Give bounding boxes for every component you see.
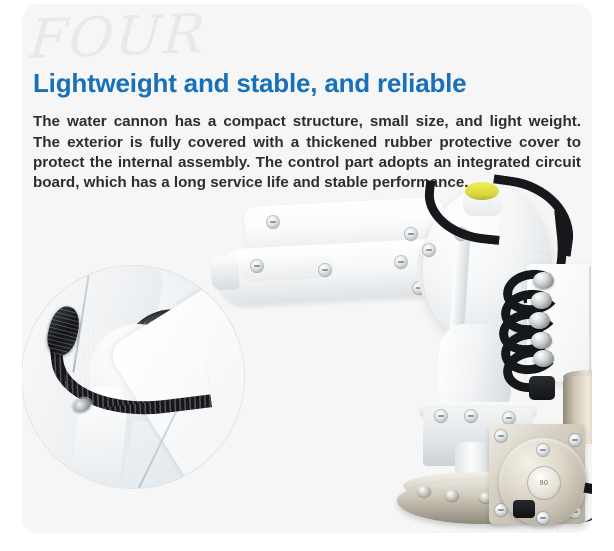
feature-card: FOUR Lightweight and stable, and reliabl…	[22, 4, 592, 533]
cable-gland	[529, 312, 550, 329]
screw-icon	[495, 430, 507, 442]
page-title: Lightweight and stable, and reliable	[33, 69, 573, 98]
screw-icon	[319, 264, 331, 276]
control-box-seam	[589, 266, 591, 380]
flange-bolt	[445, 490, 459, 501]
screw-icon	[395, 256, 407, 268]
nozzle-tip	[210, 255, 240, 290]
cable-gland	[531, 332, 552, 349]
cable-gland	[531, 292, 552, 309]
detail-inset-circle	[22, 266, 244, 488]
screw-icon	[405, 228, 417, 240]
screw-icon	[435, 410, 447, 422]
screw-icon	[503, 412, 515, 424]
screw-icon	[267, 216, 279, 228]
screw-icon	[423, 244, 435, 256]
watermark-text: FOUR	[28, 7, 208, 67]
cable-gland	[533, 350, 554, 367]
product-photo: 90	[22, 194, 592, 533]
screw-icon	[465, 410, 477, 422]
cable-strain-relief	[513, 500, 535, 518]
screw-icon	[251, 260, 263, 272]
page-root: FOUR Lightweight and stable, and reliabl…	[0, 0, 614, 551]
flange-bolt	[417, 486, 431, 497]
water-cannon-assembly: 90	[227, 194, 592, 533]
cable-gland	[533, 272, 554, 289]
